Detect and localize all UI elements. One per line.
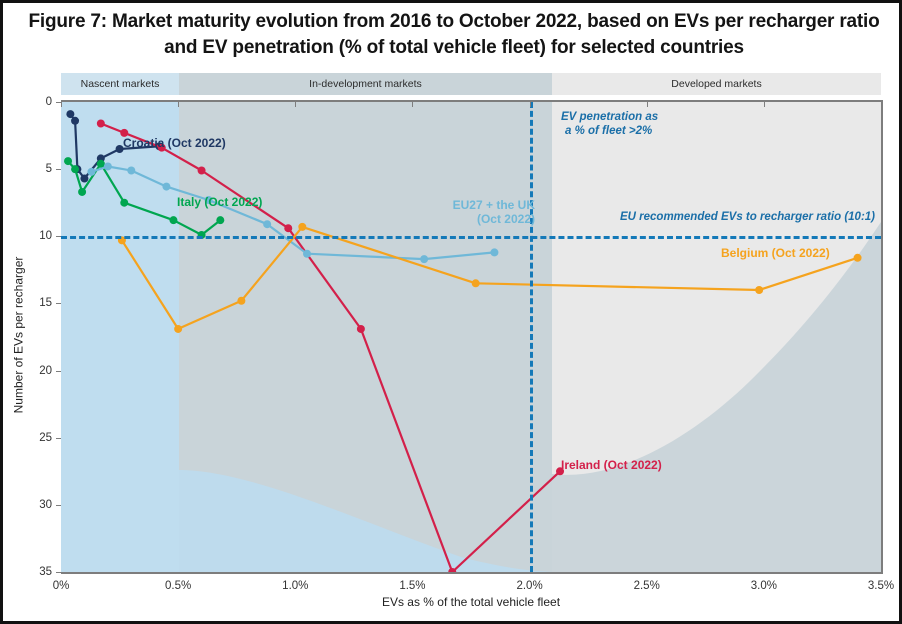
plot-inner: EV penetration as a % of fleet >2% EU re… <box>61 102 881 572</box>
x-tick-2.5%: 2.5% <box>634 572 660 592</box>
annotation-ev-penetration-line2: a % of fleet >2% <box>561 124 658 138</box>
y-axis-title-text: Number of EVs per recharger <box>11 257 25 414</box>
market-band-strip: Nascent markets In-development markets D… <box>61 73 881 95</box>
y-tickmark <box>56 236 61 237</box>
x-tickmark <box>412 102 413 107</box>
x-tickmark <box>295 102 296 107</box>
page-title: Figure 7: Market maturity evolution from… <box>3 9 902 61</box>
data-point <box>198 166 206 174</box>
data-point <box>169 216 177 224</box>
data-point <box>854 254 862 262</box>
data-point <box>97 160 105 168</box>
x-tick-1.5%: 1.5% <box>399 572 425 592</box>
x-tickmark <box>764 102 765 107</box>
series-label-ireland: Ireland (Oct 2022) <box>561 458 662 472</box>
band-in-development: In-development markets <box>179 73 552 95</box>
data-point <box>298 223 306 231</box>
data-point <box>104 162 112 170</box>
series-label-eu27-uk-line1: EU27 + the UK <box>431 198 535 212</box>
series-lines <box>61 102 881 572</box>
data-point <box>303 250 311 258</box>
data-point <box>66 110 74 118</box>
data-point <box>64 157 72 165</box>
band-nascent: Nascent markets <box>61 73 179 95</box>
eu-recommended-ratio-line <box>61 236 881 239</box>
y-axis-title: Number of EVs per recharger <box>9 100 27 570</box>
band-developed-label: Developed markets <box>671 78 761 90</box>
data-point <box>237 297 245 305</box>
data-point <box>357 325 365 333</box>
data-point <box>174 325 182 333</box>
ev-penetration-2pct-line <box>530 102 533 572</box>
series-label-eu27-uk: EU27 + the UK (Oct 2022) <box>431 198 535 226</box>
y-tickmark <box>56 169 61 170</box>
band-developed: Developed markets <box>552 73 881 95</box>
x-tick-3.0%: 3.0% <box>751 572 777 592</box>
series-belgium <box>118 223 862 333</box>
x-tick-0%: 0% <box>53 572 70 592</box>
annotation-eu-recommended-ratio: EU recommended EVs to recharger ratio (1… <box>620 210 875 224</box>
data-point <box>162 183 170 191</box>
x-tickmark <box>881 102 882 107</box>
data-point <box>755 286 763 294</box>
data-point <box>263 220 271 228</box>
data-point <box>71 165 79 173</box>
data-point <box>472 279 480 287</box>
series-line <box>101 124 560 573</box>
series-label-italy: Italy (Oct 2022) <box>177 195 262 209</box>
x-tick-0.5%: 0.5% <box>165 572 191 592</box>
x-tickmark <box>530 102 531 107</box>
x-tickmark <box>647 102 648 107</box>
data-point <box>78 188 86 196</box>
data-point <box>71 117 79 125</box>
y-tickmark <box>56 371 61 372</box>
series-label-eu27-uk-line2: (Oct 2022) <box>431 212 535 226</box>
band-nascent-label: Nascent markets <box>81 78 160 90</box>
x-tick-1.0%: 1.0% <box>282 572 308 592</box>
x-tickmark <box>178 102 179 107</box>
y-tickmark <box>56 438 61 439</box>
annotation-ev-penetration-line1: EV penetration as <box>561 110 658 124</box>
data-point <box>87 168 95 176</box>
data-point <box>80 175 88 183</box>
data-point <box>216 216 224 224</box>
series-line <box>122 227 858 329</box>
data-point <box>120 199 128 207</box>
series-label-croatia: Croatia (Oct 2022) <box>123 136 226 150</box>
data-point <box>97 119 105 127</box>
data-point <box>284 224 292 232</box>
band-in-development-label: In-development markets <box>309 78 422 90</box>
plot-area: EV penetration as a % of fleet >2% EU re… <box>61 100 883 574</box>
y-tickmark <box>56 505 61 506</box>
x-tickmark <box>61 102 62 107</box>
x-tick-3.5%: 3.5% <box>868 572 894 592</box>
x-axis-title: EVs as % of the total vehicle fleet <box>61 595 881 609</box>
x-tick-2.0%: 2.0% <box>516 572 542 592</box>
data-point <box>490 248 498 256</box>
data-point <box>127 166 135 174</box>
series-label-belgium: Belgium (Oct 2022) <box>721 246 830 260</box>
annotation-ev-penetration: EV penetration as a % of fleet >2% <box>561 110 658 138</box>
data-point <box>420 255 428 263</box>
figure-page: Figure 7: Market maturity evolution from… <box>0 0 902 624</box>
y-tickmark <box>56 303 61 304</box>
